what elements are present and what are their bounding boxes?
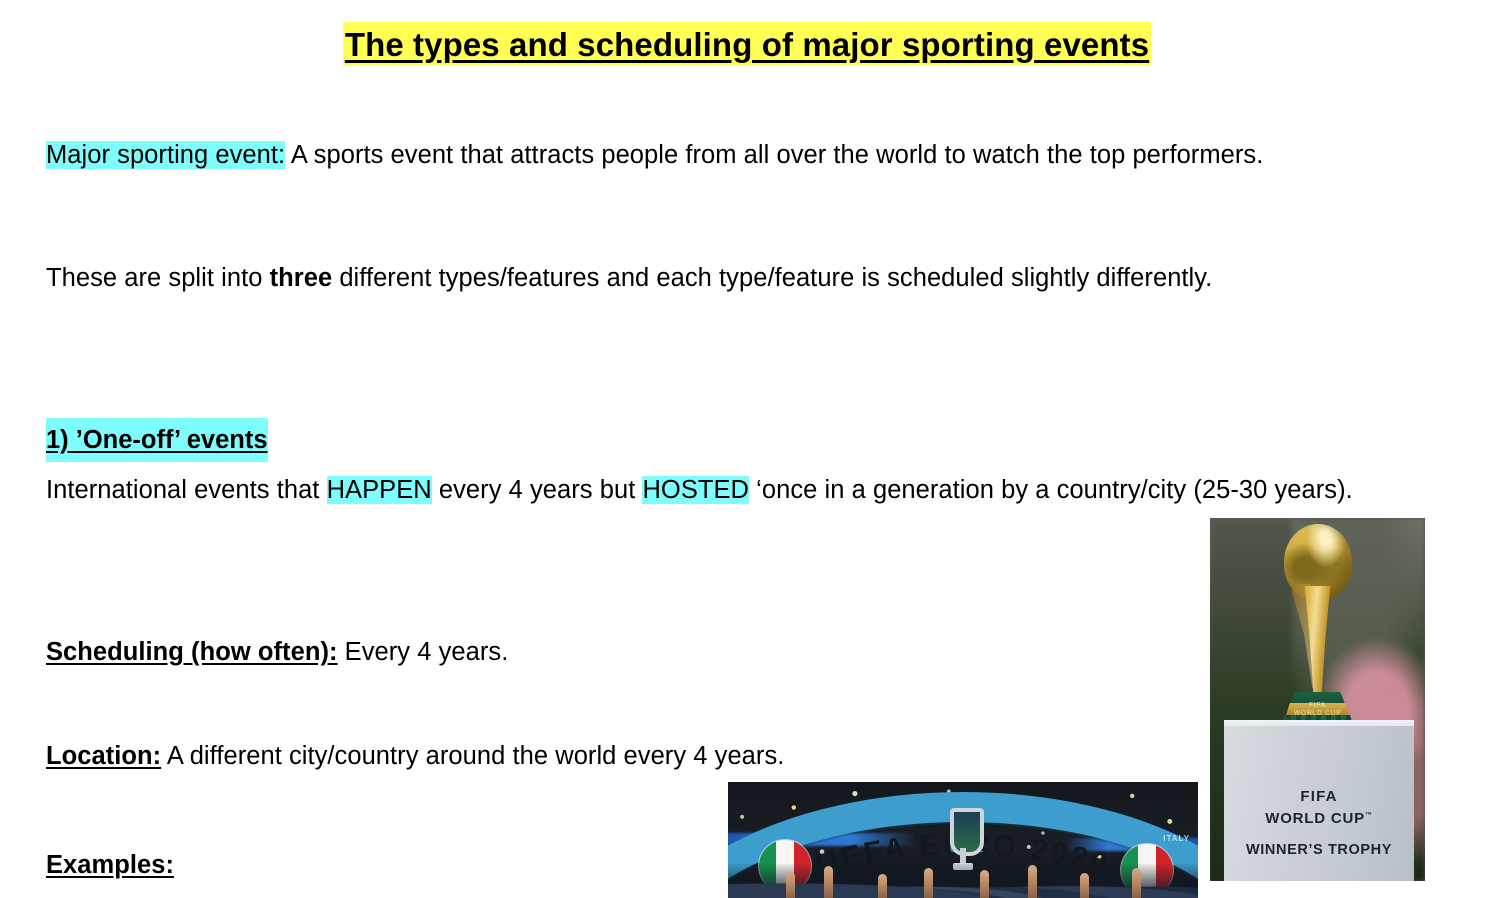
section-one-part1: International events that — [46, 476, 327, 504]
examples-label: Examples: — [46, 851, 174, 879]
scheduling-label: Scheduling (how often): — [46, 638, 338, 666]
raised-arm — [786, 872, 795, 898]
section-one-heading: 1) ’One-off’ events — [46, 418, 1428, 462]
celebrating-crowd — [728, 864, 1198, 898]
definition-paragraph: Major sporting event: A sports event tha… — [46, 130, 1428, 180]
scheduling-value: Every 4 years. — [338, 638, 509, 666]
euro-2020-photo: UEFA EURO 2020 URO 2 ITALY — [728, 782, 1198, 898]
section-one-paragraph: International events that HAPPEN every 4… — [46, 465, 1428, 515]
raised-arm — [1080, 873, 1089, 898]
section-one-part3: ‘once in a generation by a country/city … — [749, 476, 1353, 504]
definition-text: Major sporting event: A sports event tha… — [46, 130, 1428, 180]
plinth-line-winners-trophy: WINNER’S TROPHY — [1224, 842, 1414, 858]
types-text: These are split into three different typ… — [46, 253, 1428, 303]
page-title: The types and scheduling of major sporti… — [0, 22, 1494, 66]
trademark-symbol: ™ — [1365, 812, 1373, 819]
italy-board-text: ITALY — [1163, 834, 1190, 843]
types-paragraph: These are split into three different typ… — [46, 253, 1428, 303]
keyword-hosted: HOSTED — [642, 476, 749, 504]
definition-body: A sports event that attracts people from… — [285, 141, 1263, 169]
trophy-collar-text: FIFA WORLD CUP — [1290, 702, 1346, 718]
types-text-after: different types/features and each type/f… — [332, 264, 1212, 292]
section-one-text: International events that HAPPEN every 4… — [46, 465, 1428, 515]
section-one-heading-text: 1) ’One-off’ events — [46, 418, 268, 462]
section-one-part2: every 4 years but — [432, 476, 643, 504]
raised-arm — [824, 866, 833, 898]
trophy-collar-line2: WORLD CUP — [1290, 710, 1346, 718]
plinth-line-fifa: FIFA — [1224, 788, 1414, 806]
definition-term: Major sporting event: — [46, 141, 285, 169]
raised-arm — [924, 868, 933, 898]
types-emphasis-three: three — [270, 264, 333, 292]
raised-arm — [1028, 865, 1037, 898]
plinth-world-cup-text: WORLD CUP — [1265, 810, 1365, 827]
page-title-text: The types and scheduling of major sporti… — [343, 22, 1151, 66]
raised-arm — [980, 870, 989, 898]
types-text-before: These are split into — [46, 264, 270, 292]
plinth-line-world-cup: WORLD CUP™ — [1224, 806, 1414, 828]
slide-page: The types and scheduling of major sporti… — [0, 0, 1494, 898]
raised-arm — [1132, 868, 1141, 898]
raised-arm — [878, 874, 887, 898]
keyword-happen: HAPPEN — [327, 476, 432, 504]
trophy-collar-line1: FIFA — [1290, 702, 1346, 710]
plinth-label: FIFA WORLD CUP™ WINNER’S TROPHY — [1224, 788, 1414, 858]
location-label: Location: — [46, 742, 161, 770]
fifa-world-cup-trophy-photo: FIFA WORLD CUP FIFA WORLD CUP™ WINNER’S … — [1210, 518, 1425, 881]
location-value: A different city/country around the worl… — [161, 742, 784, 770]
